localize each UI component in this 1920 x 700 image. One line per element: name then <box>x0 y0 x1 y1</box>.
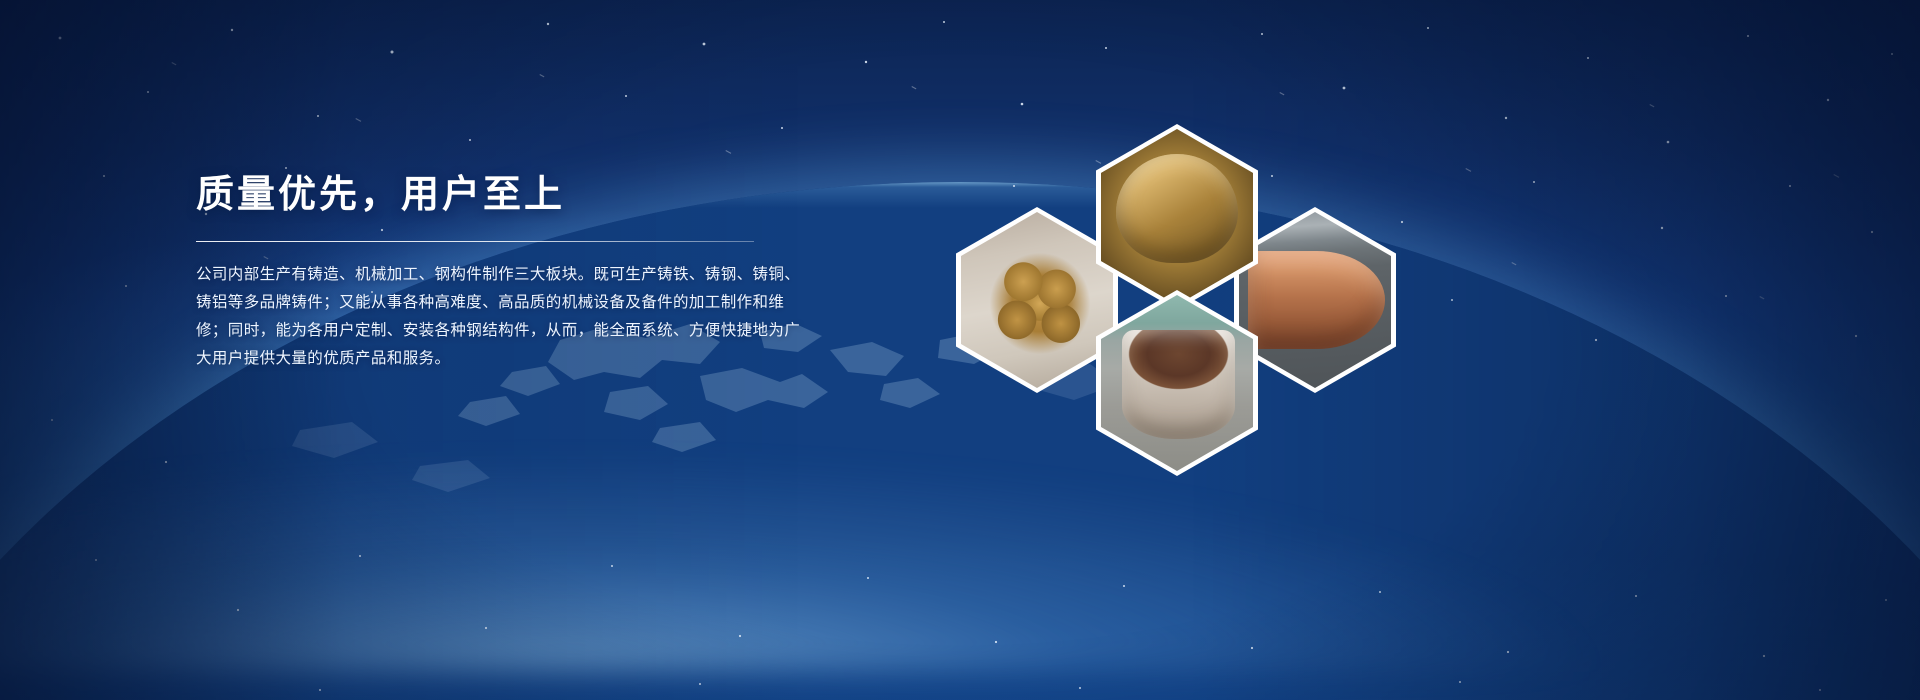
hero-banner: 质量优先，用户至上 公司内部生产有铸造、机械加工、钢构件制作三大板块。既可生产铸… <box>0 0 1920 700</box>
photo-brass-bowl-casting <box>1101 129 1253 305</box>
title-divider <box>196 241 754 242</box>
banner-copy: 质量优先，用户至上 公司内部生产有铸造、机械加工、钢构件制作三大板块。既可生产铸… <box>196 172 796 373</box>
hexagon-image-clip <box>1101 295 1253 471</box>
banner-description: 公司内部生产有铸造、机械加工、钢构件制作三大板块。既可生产铸铁、铸钢、铸铜、 铸… <box>196 261 762 373</box>
hexagon-image-clip <box>1239 212 1391 388</box>
description-line: 铸铝等多品牌铸件；又能从事各种高难度、高品质的机械设备及备件的加工制作和维 <box>196 289 762 317</box>
hexagon-tile-brass-block-parts[interactable] <box>956 207 1118 393</box>
hexagon-tile-copper-tube-part[interactable] <box>1234 207 1396 393</box>
hexagon-image-clip <box>961 212 1113 388</box>
photo-copper-tube-part <box>1239 212 1391 388</box>
description-line: 公司内部生产有铸造、机械加工、钢构件制作三大板块。既可生产铸铁、铸钢、铸铜、 <box>196 261 762 289</box>
hexagon-image-clip <box>1101 129 1253 305</box>
description-line: 修；同时，能为各用户定制、安装各种钢结构件，从而，能全面系统、方便快捷地为广 <box>196 317 762 345</box>
photo-bronze-bushing-part <box>1101 295 1253 471</box>
photo-brass-block-parts <box>961 212 1113 388</box>
description-line: 大用户提供大量的优质产品和服务。 <box>196 345 762 373</box>
hexagon-gallery <box>950 112 1390 442</box>
hexagon-tile-brass-bowl-casting[interactable] <box>1096 124 1258 310</box>
page-title: 质量优先，用户至上 <box>196 172 796 220</box>
